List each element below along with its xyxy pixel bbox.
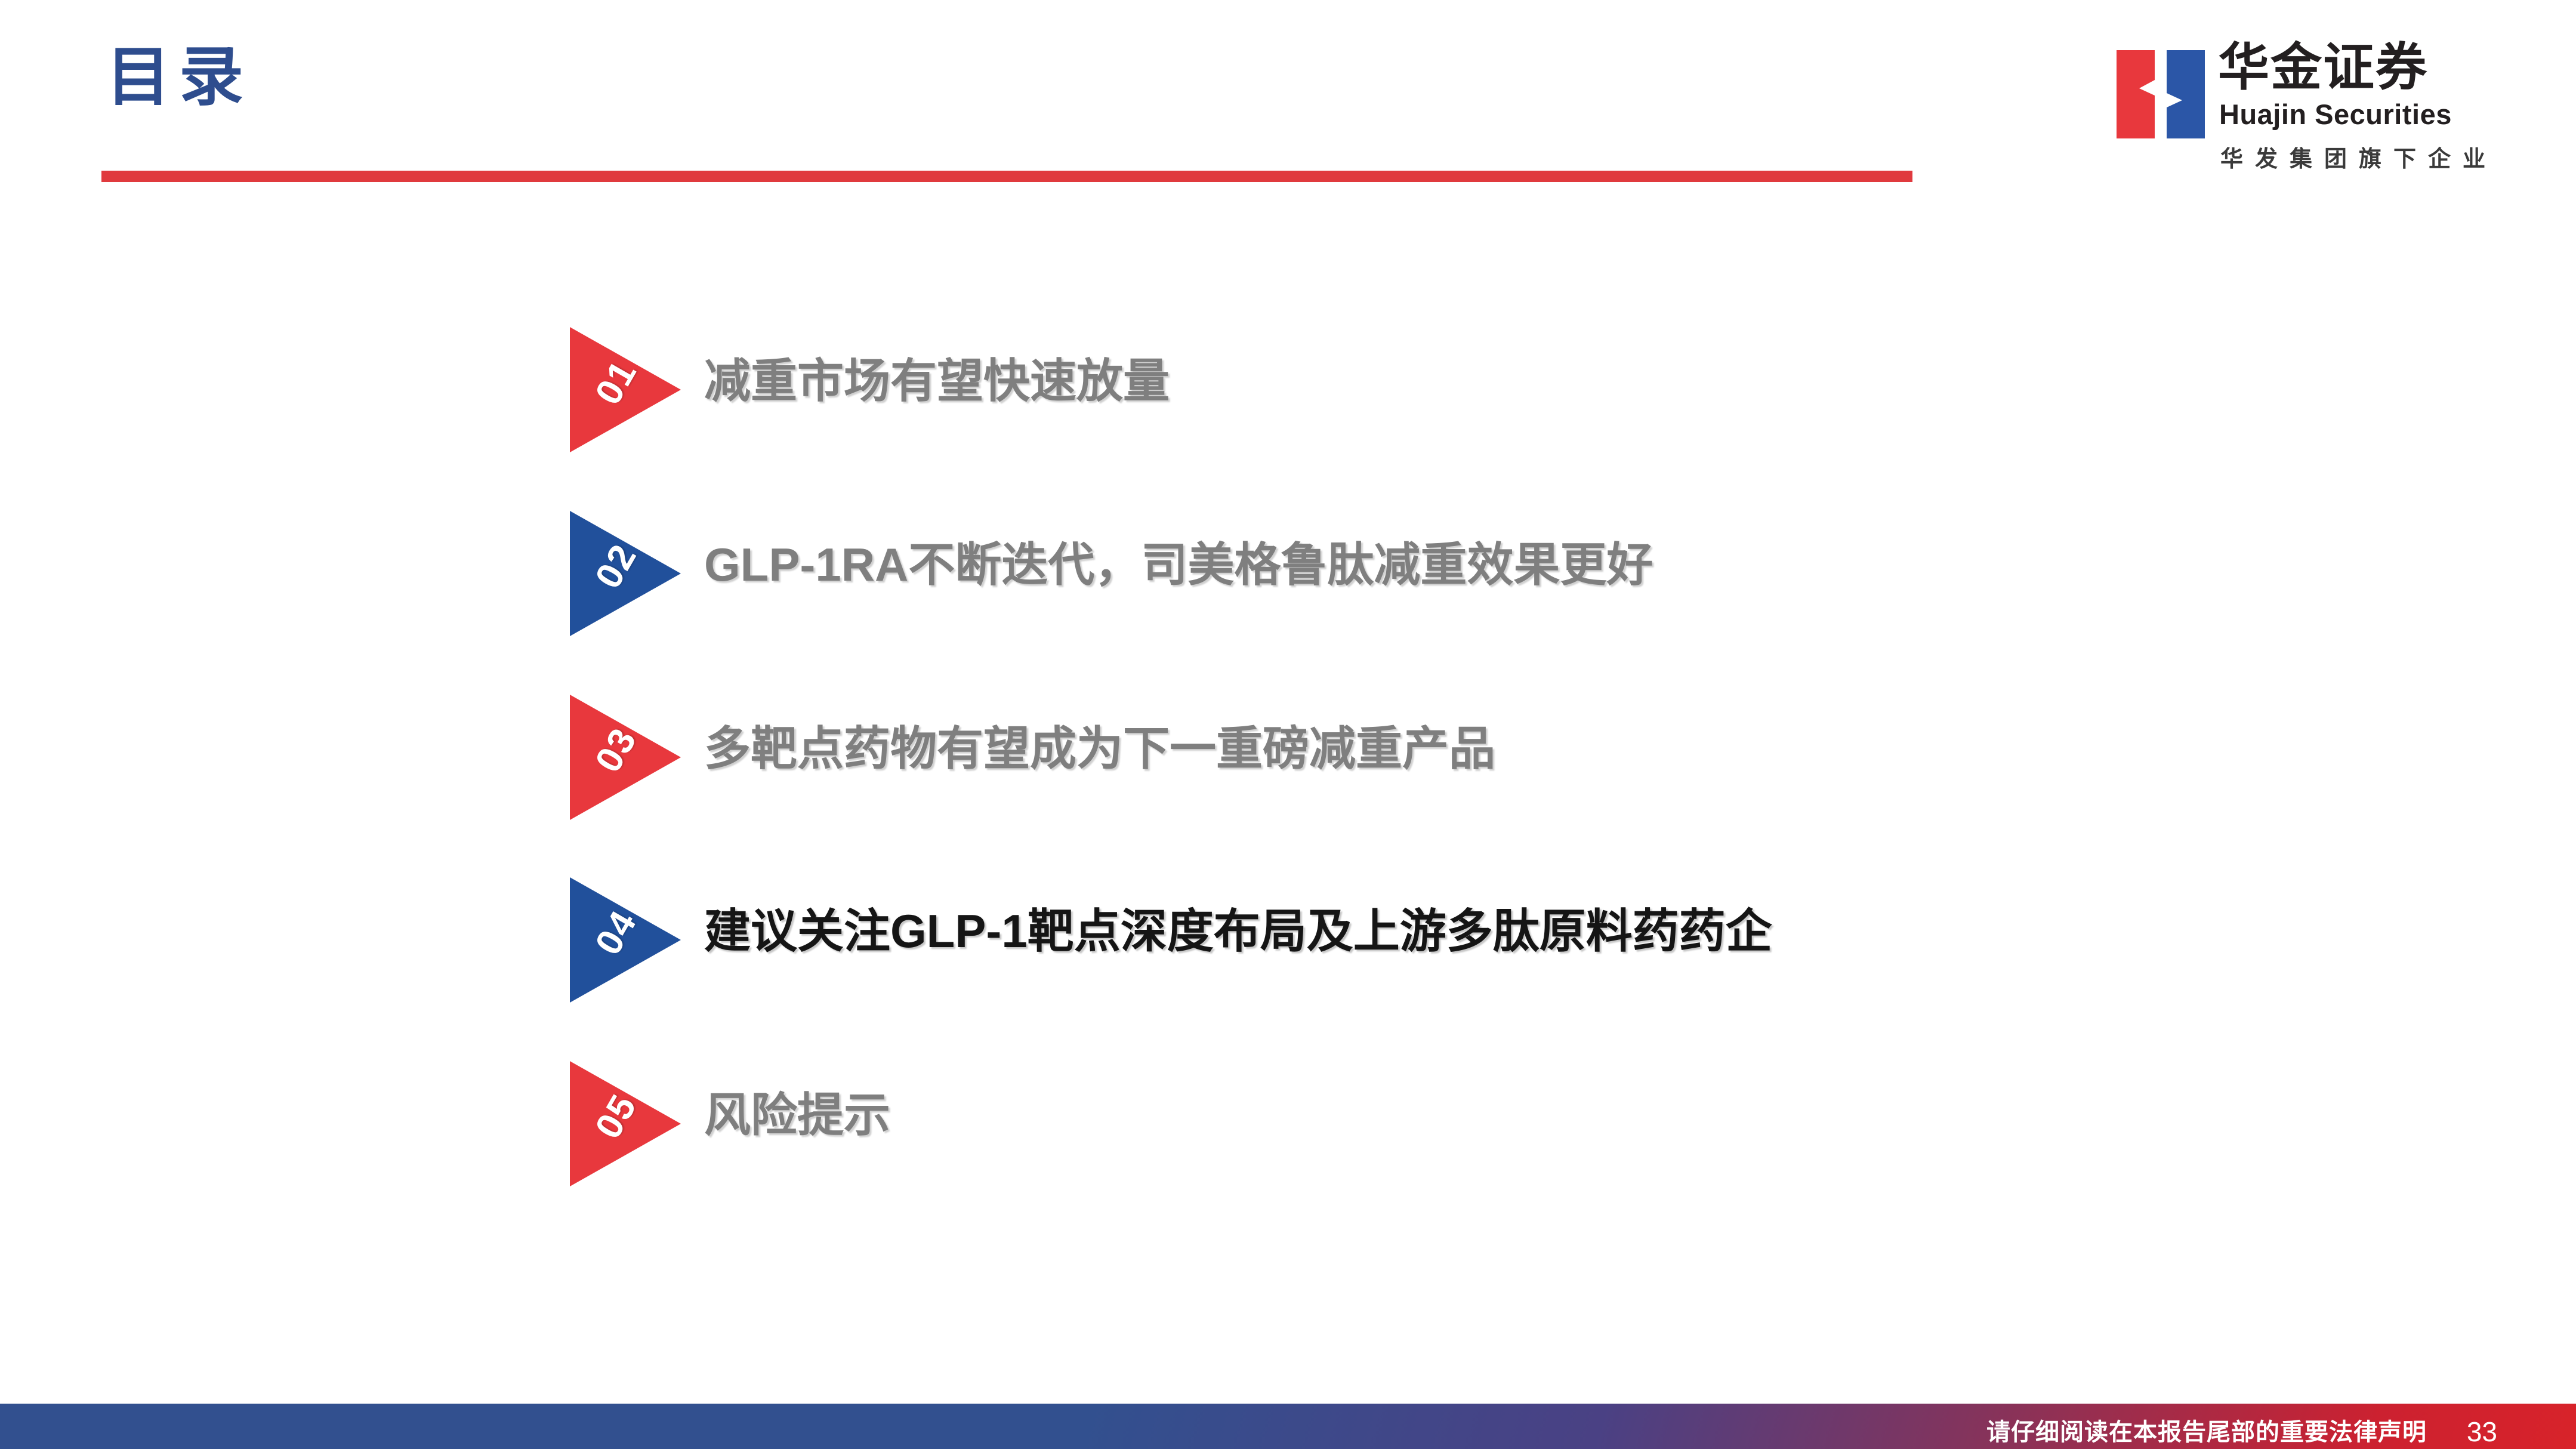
agenda-item-label: 建议关注GLP-1靶点深度布局及上游多肽原料药药企 [704, 905, 1772, 958]
agenda-item-label: 多靶点药物有望成为下一重磅减重产品 [704, 722, 1495, 776]
agenda-marker-triangle-icon: 01 [570, 327, 681, 452]
agenda-item-label: 风险提示 [704, 1089, 890, 1142]
agenda-marker-triangle-icon: 03 [570, 695, 681, 820]
agenda-marker-triangle-icon: 02 [570, 511, 681, 636]
footer-bar: 请仔细阅读在本报告尾部的重要法律声明 33 [0, 1404, 2576, 1449]
agenda-item-label: 减重市场有望快速放量 [704, 354, 1170, 408]
footer-legal-note: 请仔细阅读在本报告尾部的重要法律声明 [1986, 1420, 2427, 1444]
slide-canvas: 目录 华金证券 Huajin Securities 华发集团旗下企业 01 减重… [0, 0, 2576, 1449]
agenda-list: 01 减重市场有望快速放量 02 GLP-1RA不断迭代，司美格鲁肽减重效果更好… [0, 0, 2576, 1449]
agenda-marker-triangle-icon: 04 [570, 877, 681, 1003]
agenda-item-label: GLP-1RA不断迭代，司美格鲁肽减重效果更好 [704, 538, 1653, 592]
agenda-marker-triangle-icon: 05 [570, 1061, 681, 1186]
page-number: 33 [2467, 1418, 2497, 1445]
